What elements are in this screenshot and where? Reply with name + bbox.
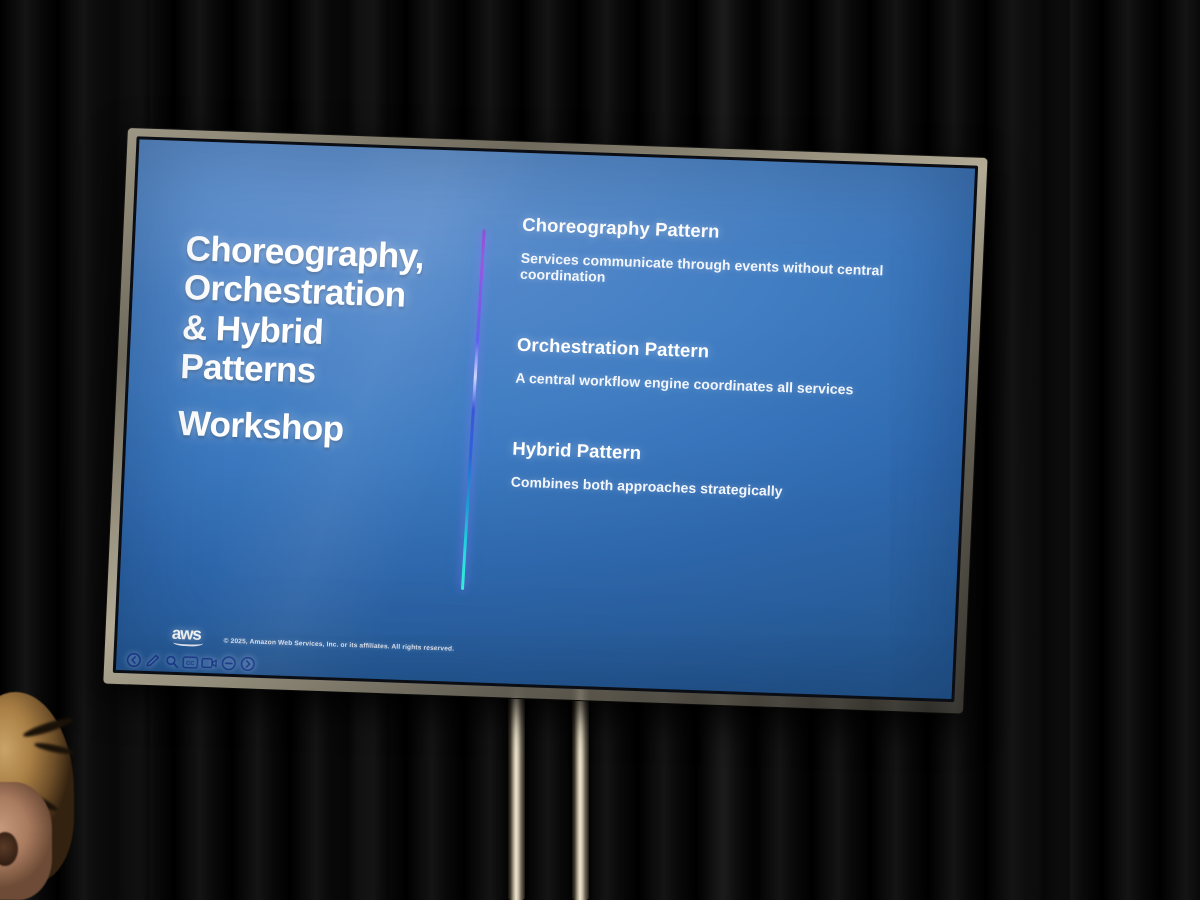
audience-member <box>0 630 112 900</box>
pattern-block: Orchestration Pattern A central workflow… <box>515 334 952 401</box>
title-subline: Workshop <box>177 404 496 455</box>
pattern-description: Combines both approaches strategically <box>511 474 946 505</box>
forward-arrow-icon[interactable] <box>239 656 256 673</box>
magnifier-icon[interactable] <box>163 653 180 670</box>
svg-text:CC: CC <box>186 661 196 667</box>
stand-pole-right <box>572 672 589 900</box>
monitor-bezel-inner: Choreography, Orchestration & Hybrid Pat… <box>113 136 978 702</box>
pattern-heading: Hybrid Pattern <box>512 438 947 475</box>
pattern-list: Choreography Pattern Services communicat… <box>511 214 958 505</box>
presenter-control-bar[interactable]: CC <box>125 652 256 673</box>
pattern-block: Choreography Pattern Services communicat… <box>520 214 957 297</box>
display-monitor: Choreography, Orchestration & Hybrid Pat… <box>103 128 987 713</box>
closed-caption-icon[interactable]: CC <box>182 654 199 671</box>
stand-pole-left <box>508 676 525 900</box>
slide-footer: aws © 2025, Amazon Web Services, Inc. or… <box>171 625 454 655</box>
pattern-heading: Choreography Pattern <box>522 214 957 251</box>
video-icon[interactable] <box>201 655 218 672</box>
pattern-description: Services communicate through events with… <box>520 250 956 297</box>
copyright-text: © 2025, Amazon Web Services, Inc. or its… <box>223 638 454 653</box>
minus-icon[interactable] <box>220 655 237 672</box>
pattern-description: A central workflow engine coordinates al… <box>515 370 950 401</box>
aws-logo-icon: aws <box>171 625 208 646</box>
photo-scene: Choreography, Orchestration & Hybrid Pat… <box>0 0 1200 900</box>
curtain-fold <box>1010 0 1070 900</box>
slide-title: Choreography, Orchestration & Hybrid Pat… <box>177 229 504 455</box>
monitor-bezel: Choreography, Orchestration & Hybrid Pat… <box>103 128 987 713</box>
slide-screen: Choreography, Orchestration & Hybrid Pat… <box>116 139 975 699</box>
pattern-block: Hybrid Pattern Combines both approaches … <box>511 438 948 505</box>
back-arrow-icon[interactable] <box>125 652 142 669</box>
pattern-heading: Orchestration Pattern <box>516 334 951 371</box>
pen-icon[interactable] <box>144 653 161 670</box>
aws-smile-arc-icon <box>173 639 203 647</box>
